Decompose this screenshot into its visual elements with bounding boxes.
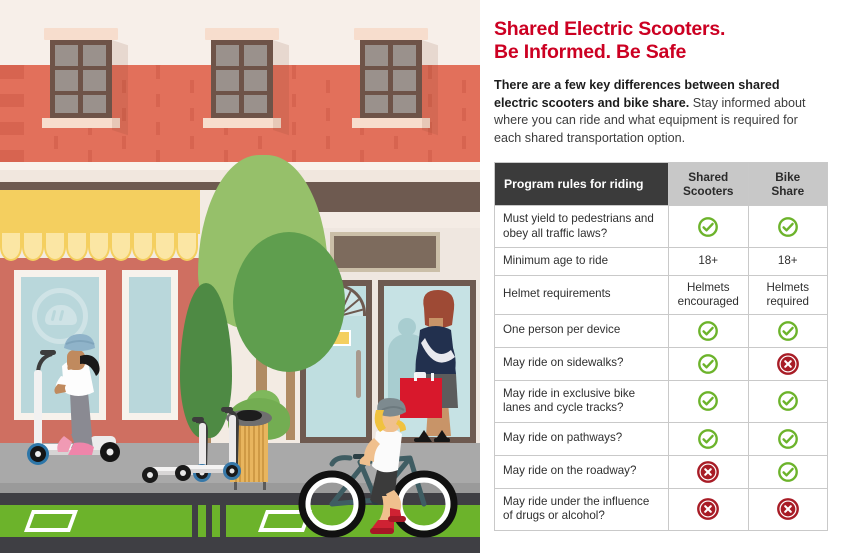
check-icon xyxy=(777,390,799,412)
header-bike-share-line2: Share xyxy=(771,184,804,198)
check-icon xyxy=(697,320,719,342)
parked-scooter-second xyxy=(165,405,280,487)
brick xyxy=(92,149,156,162)
rule-label: May ride on sidewalks? xyxy=(495,347,669,380)
table-row: May ride under the influence of drugs or… xyxy=(495,488,828,530)
check-icon xyxy=(697,216,719,238)
boutique-sign xyxy=(330,232,440,272)
cell-shared-scooters: Helmetsencouraged xyxy=(669,275,749,314)
table-row: May ride on pathways? xyxy=(495,422,828,455)
cell-shared-scooters: 18+ xyxy=(669,248,749,276)
header-bike-share: Bike Share xyxy=(748,163,828,206)
cell-bike-share: 18+ xyxy=(748,248,828,276)
cell-bike-share xyxy=(748,347,828,380)
brick xyxy=(432,121,480,136)
brick xyxy=(24,149,88,162)
awning-scallop xyxy=(66,233,88,261)
header-shared-scooters-line1: Shared xyxy=(688,170,728,184)
table-row: Helmet requirementsHelmetsencouragedHelm… xyxy=(495,275,828,314)
check-icon xyxy=(777,216,799,238)
cyclist-in-bike-lane xyxy=(298,388,458,540)
awning-scallop xyxy=(0,233,22,261)
awning-scallop xyxy=(132,233,154,261)
table-row: One person per device xyxy=(495,314,828,347)
brick xyxy=(262,135,326,150)
x-icon xyxy=(777,498,799,520)
awning-scallop xyxy=(176,233,198,261)
cell-shared-scooters xyxy=(669,455,749,488)
table-row: Minimum age to ride18+18+ xyxy=(495,248,828,276)
woman-riding-scooter xyxy=(14,318,126,480)
brick xyxy=(330,135,394,150)
brick xyxy=(296,121,360,136)
cell-shared-scooters xyxy=(669,488,749,530)
cell-shared-scooters xyxy=(669,314,749,347)
rule-label: May ride on the roadway? xyxy=(495,455,669,488)
brick xyxy=(126,135,190,150)
brick xyxy=(194,135,258,150)
tree-medium-green xyxy=(233,232,345,372)
awning-top xyxy=(0,190,200,234)
brick xyxy=(160,149,224,162)
cell-bike-share xyxy=(748,488,828,530)
cell-bike-share xyxy=(748,314,828,347)
window-shadow xyxy=(112,40,128,135)
check-icon xyxy=(697,390,719,412)
awning-scallop xyxy=(44,233,66,261)
cell-shared-scooters xyxy=(669,347,749,380)
x-icon xyxy=(697,498,719,520)
intro-paragraph: There are a few key differences between … xyxy=(494,77,827,147)
brick-row xyxy=(0,135,480,150)
table-header-row: Program rules for riding Shared Scooters… xyxy=(495,163,828,206)
check-icon xyxy=(697,428,719,450)
check-icon xyxy=(697,353,719,375)
brick xyxy=(126,79,190,94)
headline-line-2: Be Informed. Be Safe xyxy=(494,41,686,63)
awning-scallop xyxy=(22,233,44,261)
brick xyxy=(126,107,190,122)
brick xyxy=(0,79,54,94)
header-shared-scooters-line2: Scooters xyxy=(683,184,733,198)
window-lintel xyxy=(44,28,118,40)
cell-bike-share xyxy=(748,206,828,248)
x-icon xyxy=(697,461,719,483)
window-frame xyxy=(50,40,112,118)
value-bike: Helmetsrequired xyxy=(766,281,809,308)
headline-line-1: Shared Electric Scooters. xyxy=(494,18,725,40)
cell-shared-scooters xyxy=(669,380,749,422)
table-row: May ride on sidewalks? xyxy=(495,347,828,380)
header-program-rules: Program rules for riding xyxy=(495,163,669,206)
program-rules-table: Program rules for riding Shared Scooters… xyxy=(494,162,828,531)
x-icon xyxy=(777,353,799,375)
page-title: Shared Electric Scooters. Be Informed. B… xyxy=(494,18,827,64)
brick xyxy=(466,107,480,122)
value-scooters: 18+ xyxy=(698,254,718,267)
rule-label: May ride under the influence of drugs or… xyxy=(495,488,669,530)
brick xyxy=(398,135,462,150)
brick xyxy=(466,79,480,94)
crosswalk-stripe xyxy=(206,505,212,537)
info-panel: Shared Electric Scooters. Be Informed. B… xyxy=(480,0,842,553)
table-row: Must yield to pedestrians and obey all t… xyxy=(495,206,828,248)
rule-label: Helmet requirements xyxy=(495,275,669,314)
awning-scallop xyxy=(88,233,110,261)
crosswalk-stripe xyxy=(220,505,226,537)
bakery-window-side xyxy=(122,270,178,420)
check-icon xyxy=(777,461,799,483)
window-sill xyxy=(42,118,120,128)
value-scooters: Helmetsencouraged xyxy=(678,281,739,308)
rule-label: Minimum age to ride xyxy=(495,248,669,276)
table-row: May ride on the roadway? xyxy=(495,455,828,488)
brick xyxy=(432,65,480,80)
rule-label: Must yield to pedestrians and obey all t… xyxy=(495,206,669,248)
rule-label: May ride in exclusive bike lanes and cyc… xyxy=(495,380,669,422)
table-body: Must yield to pedestrians and obey all t… xyxy=(495,206,828,531)
brick xyxy=(432,149,480,162)
header-bike-share-line1: Bike xyxy=(775,170,800,184)
street-scene-illustration xyxy=(0,0,480,553)
cell-bike-share xyxy=(748,380,828,422)
awning-scallop xyxy=(110,233,132,261)
brick xyxy=(58,135,122,150)
cell-shared-scooters xyxy=(669,422,749,455)
cell-bike-share xyxy=(748,422,828,455)
check-icon xyxy=(777,320,799,342)
brick xyxy=(296,93,360,108)
cell-bike-share: Helmetsrequired xyxy=(748,275,828,314)
table-row: May ride in exclusive bike lanes and cyc… xyxy=(495,380,828,422)
infographic-page: Shared Electric Scooters. Be Informed. B… xyxy=(0,0,842,553)
cell-bike-share xyxy=(748,455,828,488)
bike-lane-diamond-marking xyxy=(24,510,78,532)
rule-label: May ride on pathways? xyxy=(495,422,669,455)
brick xyxy=(364,149,428,162)
rule-label: One person per device xyxy=(495,314,669,347)
cell-shared-scooters xyxy=(669,206,749,248)
brick xyxy=(432,93,480,108)
brick xyxy=(0,135,54,150)
brick xyxy=(466,135,480,150)
awning-scallop xyxy=(154,233,176,261)
crosswalk-stripe xyxy=(192,505,198,537)
value-bike: 18+ xyxy=(778,254,798,267)
check-icon xyxy=(777,428,799,450)
brick xyxy=(296,149,360,162)
brick xyxy=(296,65,360,80)
header-shared-scooters: Shared Scooters xyxy=(669,163,749,206)
